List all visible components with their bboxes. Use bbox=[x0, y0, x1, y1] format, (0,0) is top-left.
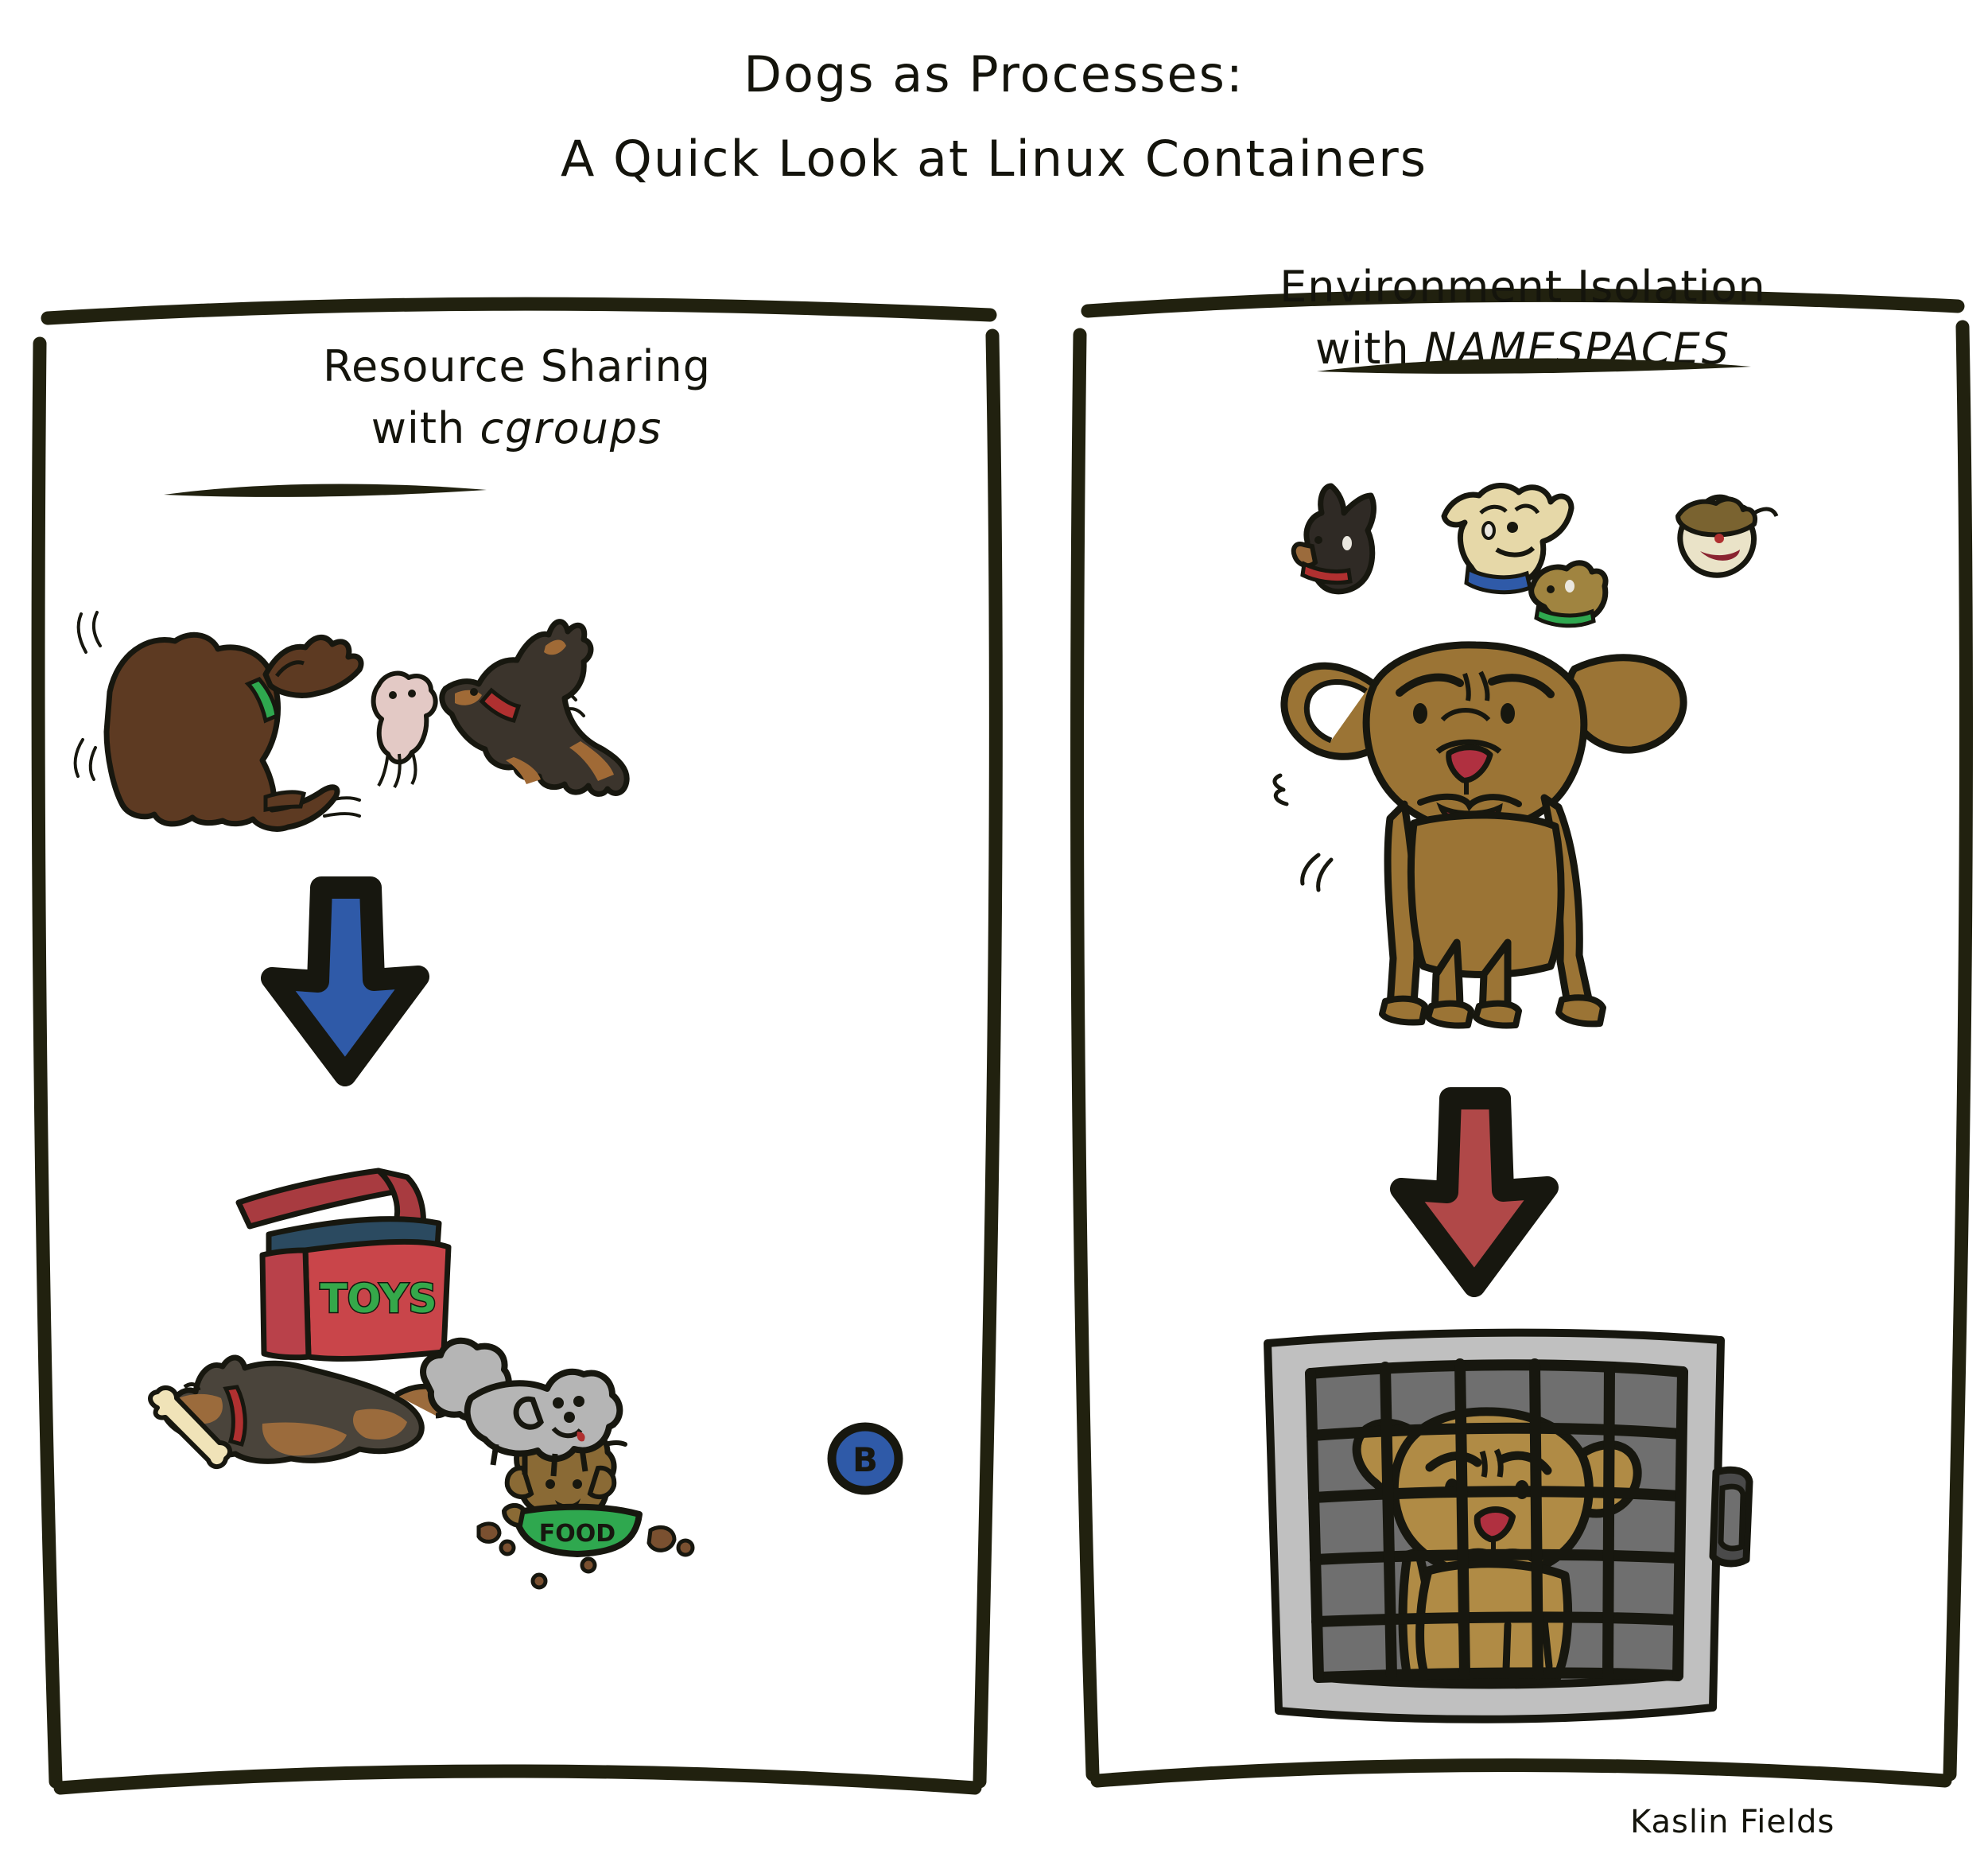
motion-lines bbox=[1275, 775, 1331, 890]
heading-underline-left bbox=[159, 477, 493, 501]
poodle bbox=[423, 1341, 619, 1476]
dog-chocolate-lab bbox=[107, 635, 361, 829]
dog-crate bbox=[1248, 1316, 1757, 1738]
doberman-head-icon bbox=[1294, 486, 1374, 592]
scene-tug-of-war bbox=[72, 596, 628, 851]
food-bowl: FOOD bbox=[504, 1506, 639, 1554]
dog-doberman bbox=[442, 622, 627, 795]
heading-underline-right bbox=[1312, 352, 1757, 376]
pug-head-icon bbox=[1678, 497, 1776, 575]
blue-ball: B bbox=[819, 1416, 914, 1503]
panel-cgroups: Resource Sharing with cgroups bbox=[24, 286, 1010, 1797]
dog-gray-poodle bbox=[414, 1296, 652, 1511]
arrow-down-blue bbox=[254, 875, 437, 1090]
paws bbox=[1382, 997, 1603, 1025]
title-line-1: Dogs as Processes: bbox=[0, 48, 1988, 102]
artist-signature: Kaslin Fields bbox=[1630, 1804, 1835, 1840]
title-line-2: A Quick Look at Linux Containers bbox=[0, 132, 1988, 186]
ball-label: B bbox=[852, 1440, 878, 1479]
crate-latch[interactable] bbox=[1713, 1470, 1749, 1564]
panel-namespaces: Environment Isolation with NAMESPACES bbox=[1066, 282, 1980, 1785]
comic-canvas: Dogs as Processes: A Quick Look at Linux… bbox=[0, 0, 1988, 1869]
floating-dog-heads bbox=[1280, 481, 1773, 632]
page-title: Dogs as Processes: A Quick Look at Linux… bbox=[0, 48, 1988, 186]
arrow-down-red bbox=[1384, 1086, 1567, 1300]
tan-puppy-head-icon bbox=[1532, 563, 1606, 626]
toy-plush bbox=[374, 674, 436, 787]
food-bowl-label: FOOD bbox=[539, 1520, 615, 1548]
angry-tan-dog bbox=[1272, 624, 1781, 1038]
